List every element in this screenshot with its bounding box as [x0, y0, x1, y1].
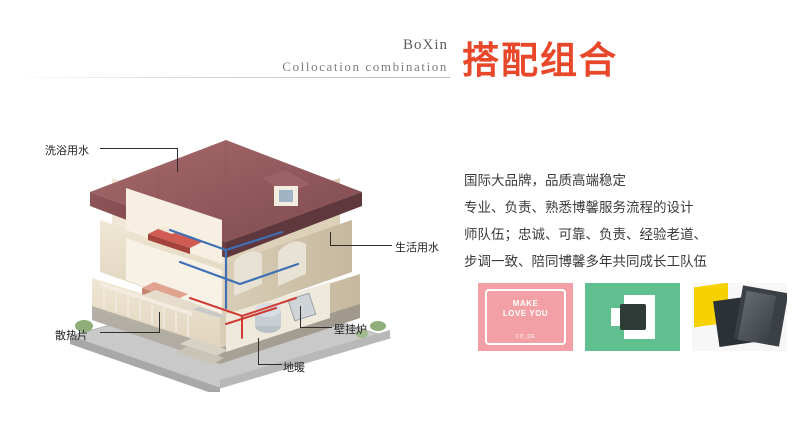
- callout-label-radiator: 散热片: [55, 327, 88, 343]
- header-brand-name: BoXin: [282, 36, 448, 55]
- page-header: BoXin Collocation combination 搭配组合: [0, 0, 800, 100]
- description-line-1: 国际大品牌，品质高端稳定: [464, 168, 786, 195]
- page-title: 搭配组合: [462, 30, 618, 84]
- leader-line-2: [330, 245, 392, 246]
- callout-label-floor-heating: 地暖: [283, 359, 305, 375]
- card-title: MAKE LOVE YOU: [478, 299, 573, 319]
- pink-card-thumbnail[interactable]: MAKE LOVE YOU CO_DE: [478, 283, 573, 351]
- callout-label-bathing-water: 洗浴用水: [45, 142, 89, 158]
- leader-line-2b: [330, 232, 331, 246]
- callout-label-wall-hung-boiler: 壁挂炉: [334, 321, 367, 337]
- leader-line-3b: [159, 312, 160, 333]
- header-english-title: BoXin Collocation combination: [282, 36, 448, 77]
- description-line-3: 师队伍；忠诚、可靠、负责、经验老道、: [464, 222, 786, 249]
- green-tile-thumbnail[interactable]: [585, 283, 680, 351]
- leader-line-3: [100, 332, 160, 333]
- tile-notch-left: [596, 310, 609, 323]
- house-cutaway-illustration: [30, 112, 450, 392]
- description-line-4: 步调一致、陪同博馨多年共同成长工队伍: [464, 249, 786, 276]
- leader-line-5: [258, 364, 282, 365]
- card-caption: CO_DE: [478, 334, 573, 340]
- yellow-dark-panels-thumbnail[interactable]: [692, 283, 787, 351]
- leader-line-5b: [258, 338, 259, 365]
- header-subtitle-en: Collocation combination: [282, 57, 448, 77]
- callout-label-domestic-water: 生活用水: [395, 239, 439, 255]
- thumbnail-strip: MAKE LOVE YOU CO_DE: [478, 283, 788, 351]
- leader-line-4: [300, 327, 332, 328]
- description-line-2: 专业、负责、熟悉博馨服务流程的设计: [464, 195, 786, 222]
- description-text: 国际大品牌，品质高端稳定 专业、负责、熟悉博馨服务流程的设计 师队伍；忠诚、可靠…: [464, 168, 786, 276]
- header-divider: [10, 77, 450, 78]
- tile-dark-square: [620, 304, 646, 330]
- leader-line-1b: [177, 148, 178, 172]
- leader-line-1: [100, 148, 178, 149]
- leader-line-4b: [300, 306, 301, 328]
